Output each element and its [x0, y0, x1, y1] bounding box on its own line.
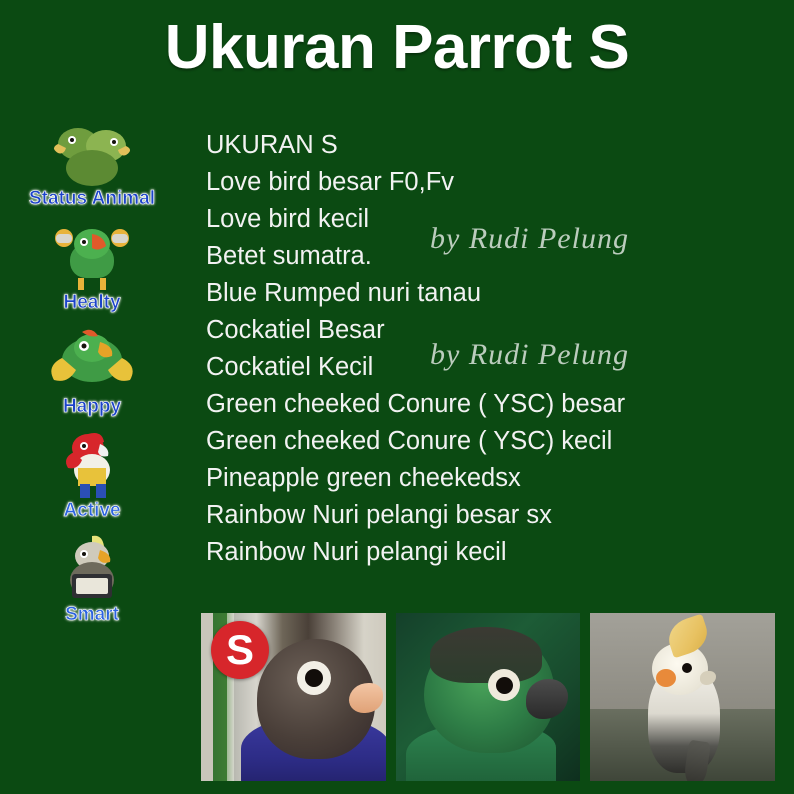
list-heading: UKURAN S — [206, 127, 766, 164]
list-item: Love bird kecil — [206, 201, 766, 238]
size-badge: S — [211, 621, 269, 679]
cockatiel-photo — [589, 612, 776, 782]
sidebar-item-label: Status Animal — [22, 188, 162, 210]
list-item: Rainbow Nuri pelangi besar sx — [206, 497, 766, 534]
parrot-smart-icon — [22, 534, 162, 606]
sidebar-item-label: Active — [22, 500, 162, 522]
sidebar-item-healty[interactable]: Healty — [22, 222, 162, 314]
list-item: Green cheeked Conure ( YSC) kecil — [206, 423, 766, 460]
sidebar-item-label: Healty — [22, 292, 162, 314]
bird-beak — [349, 683, 383, 713]
list-item: Rainbow Nuri pelangi kecil — [206, 534, 766, 571]
sidebar-item-label: Happy — [22, 396, 162, 418]
green-cheeked-conure-photo — [395, 612, 582, 782]
status-badge-column: Status Animal Healty — [22, 118, 162, 638]
list-item: Betet sumatra. — [206, 238, 766, 275]
sidebar-item-happy[interactable]: Happy — [22, 326, 162, 418]
list-item: Pineapple green cheekedsx — [206, 460, 766, 497]
page-title: Ukuran Parrot S — [0, 12, 794, 83]
parrot-active-icon — [22, 430, 162, 502]
list-item: Love bird besar F0,Fv — [206, 164, 766, 201]
sidebar-item-label: Smart — [22, 604, 162, 626]
bird-cap — [430, 627, 542, 683]
sidebar-item-status-animal[interactable]: Status Animal — [22, 118, 162, 210]
poster-canvas: Ukuran Parrot S Status Animal — [0, 0, 794, 794]
list-item: Green cheeked Conure ( YSC) besar — [206, 386, 766, 423]
parrot-healty-icon — [22, 222, 162, 294]
size-list: UKURAN S Love bird besar F0,Fv Love bird… — [206, 127, 766, 571]
list-item: Blue Rumped nuri tanau — [206, 275, 766, 312]
parrot-status-icon — [22, 118, 162, 190]
bird-eye — [305, 669, 323, 687]
lovebird-photo: S — [200, 612, 387, 782]
bird-beak — [526, 679, 568, 719]
sidebar-item-active[interactable]: Active — [22, 430, 162, 522]
cage-bar-icon — [201, 613, 213, 781]
parrot-happy-icon — [22, 326, 162, 398]
list-item: Cockatiel Besar — [206, 312, 766, 349]
list-item: Cockatiel Kecil — [206, 349, 766, 386]
bird-eye — [496, 677, 513, 694]
sidebar-item-smart[interactable]: Smart — [22, 534, 162, 626]
photo-strip: S — [200, 612, 776, 780]
